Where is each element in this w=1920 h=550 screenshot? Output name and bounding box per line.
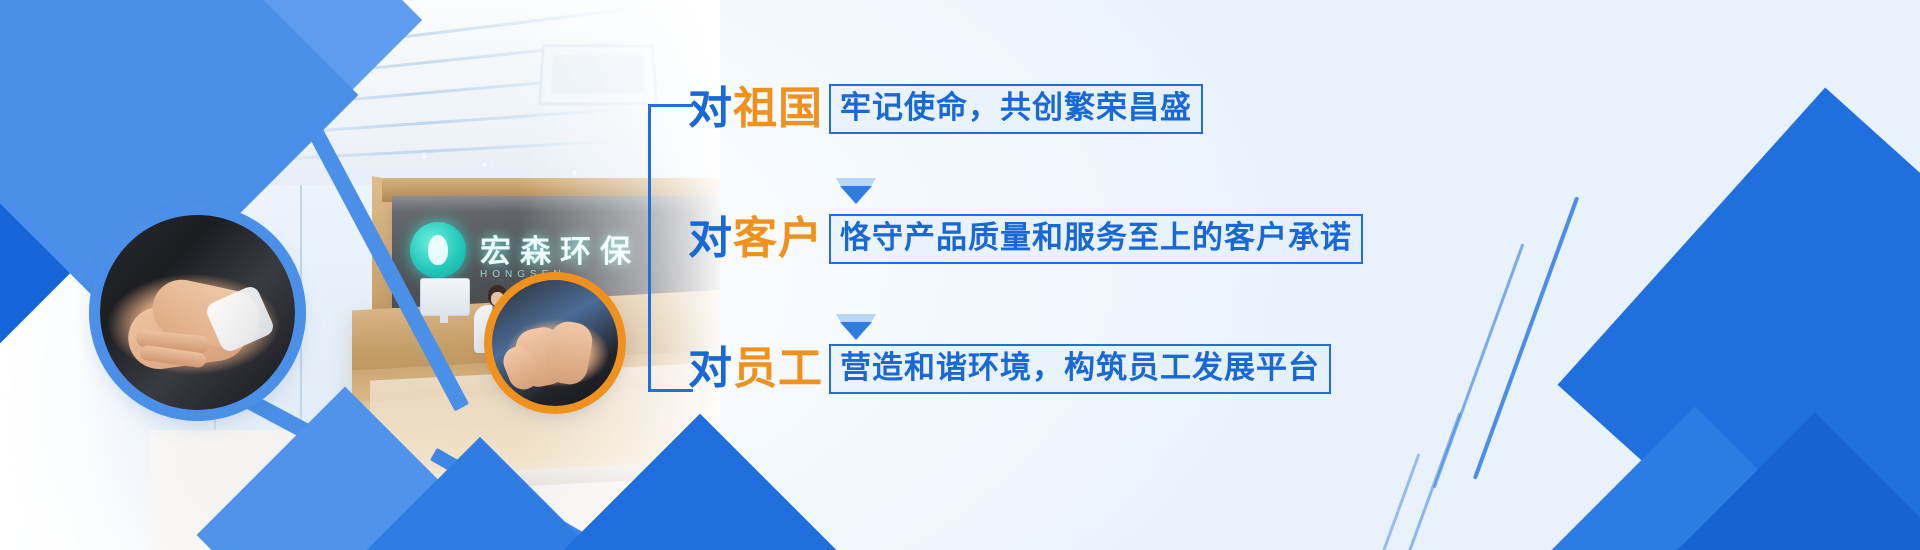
statement-text-country: 牢记使命，共创繁荣昌盛 (829, 84, 1203, 133)
statement-row-country: 对祖国 牢记使命，共创繁荣昌盛 (688, 78, 1388, 140)
statement-lead-employee: 对员工 (688, 347, 823, 391)
statement-rows: 对祖国 牢记使命，共创繁荣昌盛 对客户 恪守产品质量和服务至上的客户承诺 对员工… (688, 78, 1388, 264)
statement-prefix: 对 (688, 217, 733, 261)
statement-lead-customer: 对客户 (688, 217, 823, 261)
statement-text-customer: 恪守产品质量和服务至上的客户承诺 (829, 214, 1363, 263)
bracket-connector (648, 104, 693, 392)
culture-statements: 对祖国 牢记使命，共创繁荣昌盛 对客户 恪守产品质量和服务至上的客户承诺 对员工… (648, 78, 1348, 408)
corporate-culture-banner: 宏森环保 HONGSEN (0, 0, 1920, 550)
statement-prefix: 对 (688, 347, 733, 391)
statement-keyword: 客户 (733, 217, 823, 261)
statement-keyword: 祖国 (733, 87, 823, 131)
statement-lead-country: 对祖国 (688, 87, 823, 131)
down-arrow-icon (836, 178, 876, 204)
down-arrow-icon (836, 314, 876, 340)
statement-row-employee: 对员工 营造和谐环境，构筑员工发展平台 (688, 338, 1388, 400)
statement-prefix: 对 (688, 87, 733, 131)
statement-text-employee: 营造和谐环境，构筑员工发展平台 (829, 344, 1331, 393)
statement-row-customer: 对客户 恪守产品质量和服务至上的客户承诺 (688, 208, 1388, 270)
statement-keyword: 员工 (733, 347, 823, 391)
